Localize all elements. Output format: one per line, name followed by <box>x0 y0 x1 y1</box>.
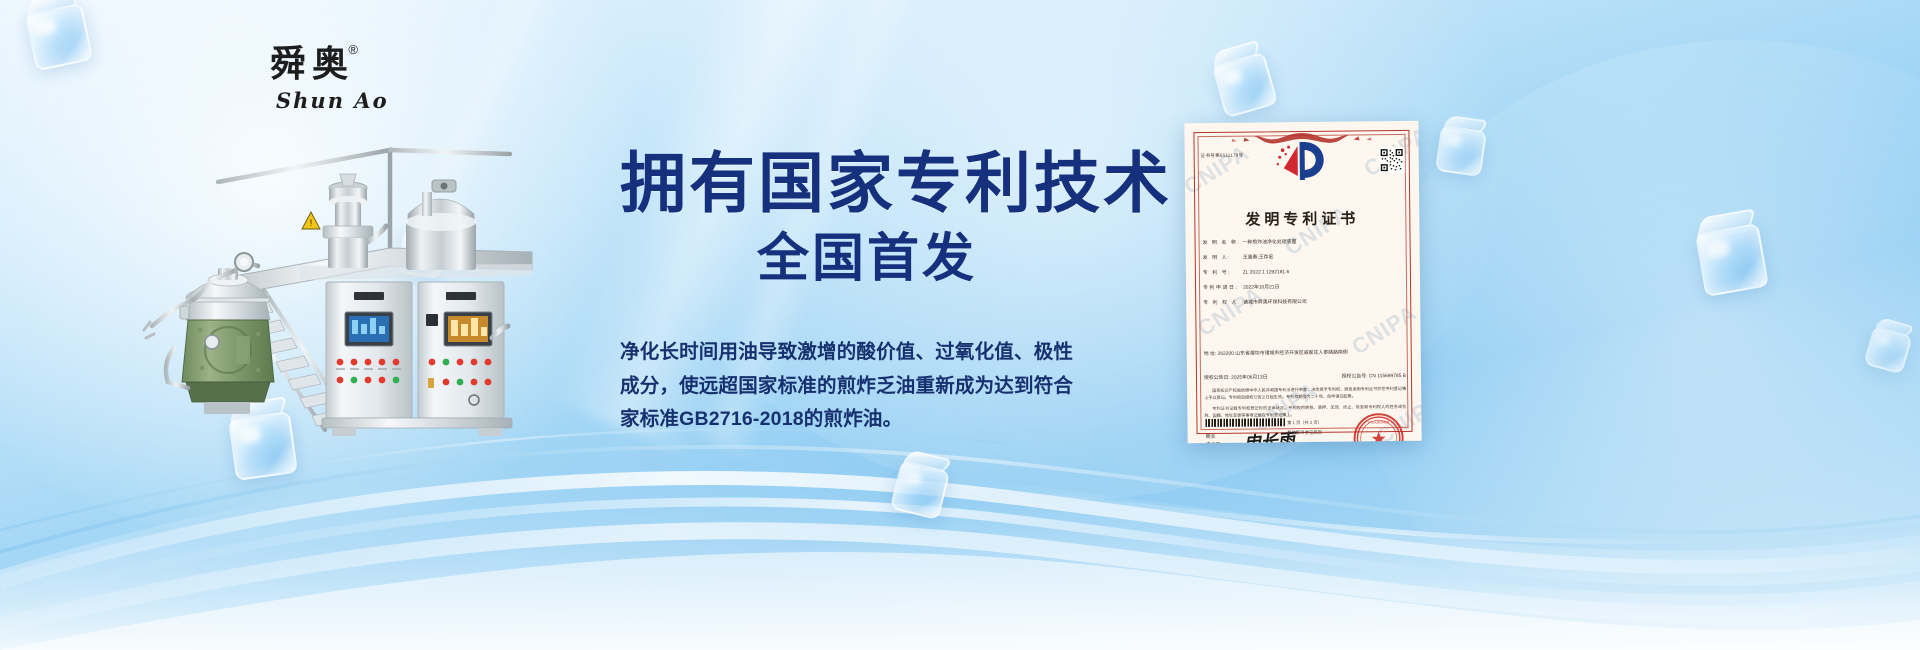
copy-block: 拥有国家专利技术 全国首发 净化长时间用油导致激增的酸价值、过氧化值、极性成分，… <box>620 148 1140 437</box>
grant-number: 授权公告号: CN 115699785 B <box>1342 372 1406 380</box>
registered-trademark-icon: ® <box>348 42 358 57</box>
promo-banner: 舜奥 ® Shun Ao <box>0 0 1920 650</box>
certificate-field-row: 发 明 人: 王喜春;王存宏 <box>1203 254 1405 263</box>
brand-logo-chinese: 舜奥 <box>270 43 354 85</box>
field-value: ZL 2022 1 1292181.6 <box>1243 269 1405 277</box>
field-value: 2022年10月21日 <box>1243 284 1405 292</box>
certificate-field-row: 专 利 号: ZL 2022 1 1292181.6 <box>1203 269 1405 278</box>
grant-date: 授权公告日: 2025年06月13日 <box>1204 373 1268 381</box>
certificate-field-row: 专利申请日: 2022年10月21日 <box>1203 284 1405 293</box>
grant-number-value: CN 115699785 B <box>1369 374 1406 379</box>
grant-date-value: 2025年06月13日 <box>1231 375 1267 380</box>
svg-text:!: ! <box>310 218 313 228</box>
certificate-title: 发明专利证书 <box>1185 207 1419 230</box>
subheadline: 全国首发 <box>620 227 1140 292</box>
brand-logo-pinyin: Shun Ao <box>270 88 400 113</box>
headline: 拥有国家专利技术 <box>620 148 1140 219</box>
field-label: 专 利 权 人: <box>1203 301 1243 308</box>
field-label: 专 利 号: <box>1203 271 1243 278</box>
ice-cube-6 <box>1435 125 1487 177</box>
certificate-number: 证书号第6511179号 <box>1201 153 1244 159</box>
certificate-paragraph-1: 国家知识产权局依照中华人民共和国专利法进行审查，决定授予专利权，颁发发明专利证书… <box>1204 385 1406 401</box>
grant-date-label: 授权公告日: <box>1204 376 1230 381</box>
director-name: 申长雨 <box>1206 441 1221 443</box>
certificate-fields: 发 明 名 称: 一种煎炸油净化处理装置 发 明 人: 王喜春;王存宏 专 利 … <box>1203 239 1406 316</box>
certificate-field-row: 发 明 名 称: 一种煎炸油净化处理装置 <box>1203 239 1405 248</box>
address-value: 262200 山东省潍坊市诸城市经济开发区威家庄人泰路路南侧 <box>1218 351 1348 357</box>
grant-number-label: 授权公告号: <box>1342 374 1368 379</box>
ice-cube-7 <box>1695 223 1769 297</box>
certificate-field-row: 专 利 权 人: 诸城市舜奥环保科技有限公司 <box>1203 299 1405 308</box>
field-value: 一种煎炸油净化处理装置 <box>1243 239 1405 247</box>
field-label: 发 明 名 称: <box>1203 241 1243 248</box>
oil-purification-machine: ! <box>140 130 600 470</box>
description-paragraph: 净化长时间用油导致激增的酸价值、过氧化值、极性成分，使远超国家标准的煎炸乏油重新… <box>620 336 1080 437</box>
field-label: 发 明 人: <box>1203 256 1243 263</box>
field-value: 诸城市舜奥环保科技有限公司 <box>1243 299 1405 307</box>
brand-logo: 舜奥 ® Shun Ao <box>270 46 400 122</box>
qr-code-icon <box>1379 147 1405 173</box>
field-value: 王喜春;王存宏 <box>1243 254 1405 262</box>
patent-certificate: CNIPA CNIPA CNIPA CNIPA CNIPA CNIPA CNIP… <box>1184 121 1421 443</box>
address-label: 地 址: <box>1204 352 1217 357</box>
ice-cube-1 <box>25 3 94 72</box>
field-label: 专利申请日: <box>1203 286 1243 293</box>
cnipa-emblem-icon <box>1273 138 1330 188</box>
